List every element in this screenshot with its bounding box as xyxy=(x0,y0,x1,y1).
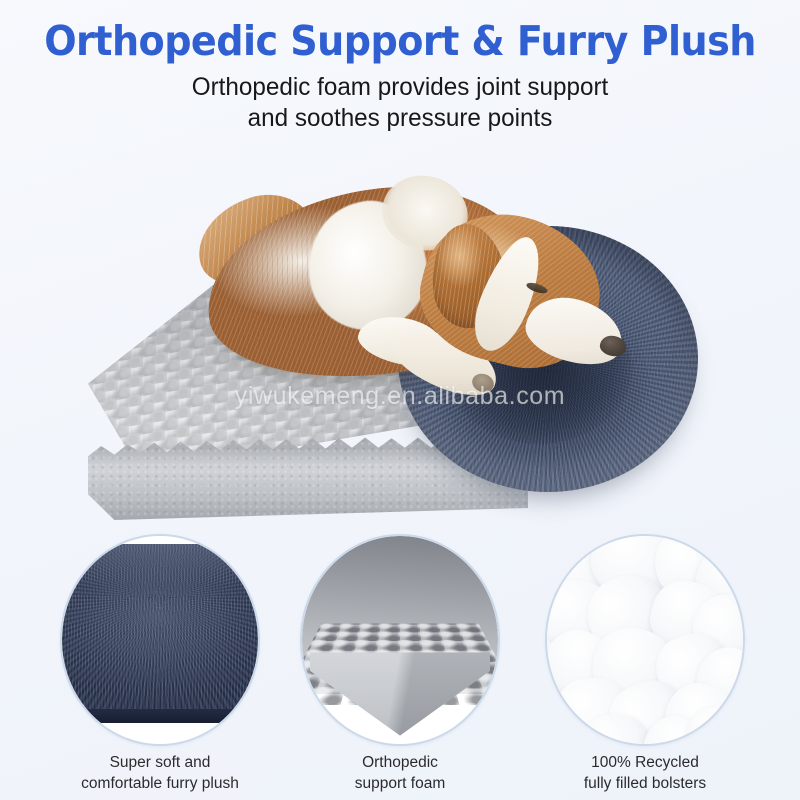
product-infographic: Orthopedic Support & Furry Plush Orthope… xyxy=(0,0,800,800)
feature-caption-line-2: support foam xyxy=(275,773,525,794)
furry-plush-closeup-image xyxy=(62,536,258,744)
feature-callouts: Super soft and comfortable furry plush O… xyxy=(0,528,800,800)
subtitle-line-2: and soothes pressure points xyxy=(12,103,788,134)
feature-image-circle xyxy=(300,534,500,746)
feature-caption-line-1: Orthopedic xyxy=(362,754,438,771)
feature-caption: Orthopedic support foam xyxy=(275,752,525,794)
sleeping-dog xyxy=(196,168,666,438)
recycled-fiberfill-closeup-image xyxy=(547,536,743,744)
feature-caption: 100% Recycled fully filled bolsters xyxy=(520,752,770,794)
subtitle-line-1: Orthopedic foam provides joint support xyxy=(192,73,609,101)
feature-caption-line-1: 100% Recycled xyxy=(591,754,699,771)
hero-product-photo: yiwukemeng.en.alibaba.com xyxy=(0,150,800,525)
page-title: Orthopedic Support & Furry Plush xyxy=(28,18,772,64)
feature-image-circle xyxy=(60,534,260,746)
feature-caption-line-1: Super soft and xyxy=(110,754,211,771)
plush-fabric-base xyxy=(62,709,258,724)
feature-item-furry-plush: Super soft and comfortable furry plush xyxy=(35,528,285,746)
orthopedic-foam-closeup-image xyxy=(302,536,498,744)
feature-image-circle xyxy=(545,534,745,746)
page-subtitle: Orthopedic foam provides joint support a… xyxy=(12,72,788,134)
plush-fur-texture xyxy=(62,544,258,723)
feature-item-recycled-fill: 100% Recycled fully filled bolsters xyxy=(520,528,770,746)
feature-caption-line-2: comfortable furry plush xyxy=(35,773,285,794)
feature-caption-line-2: fully filled bolsters xyxy=(520,773,770,794)
fiberfill-puffs xyxy=(547,536,743,744)
feature-caption: Super soft and comfortable furry plush xyxy=(35,752,285,794)
feature-item-orthopedic-foam: Orthopedic support foam xyxy=(275,528,525,746)
